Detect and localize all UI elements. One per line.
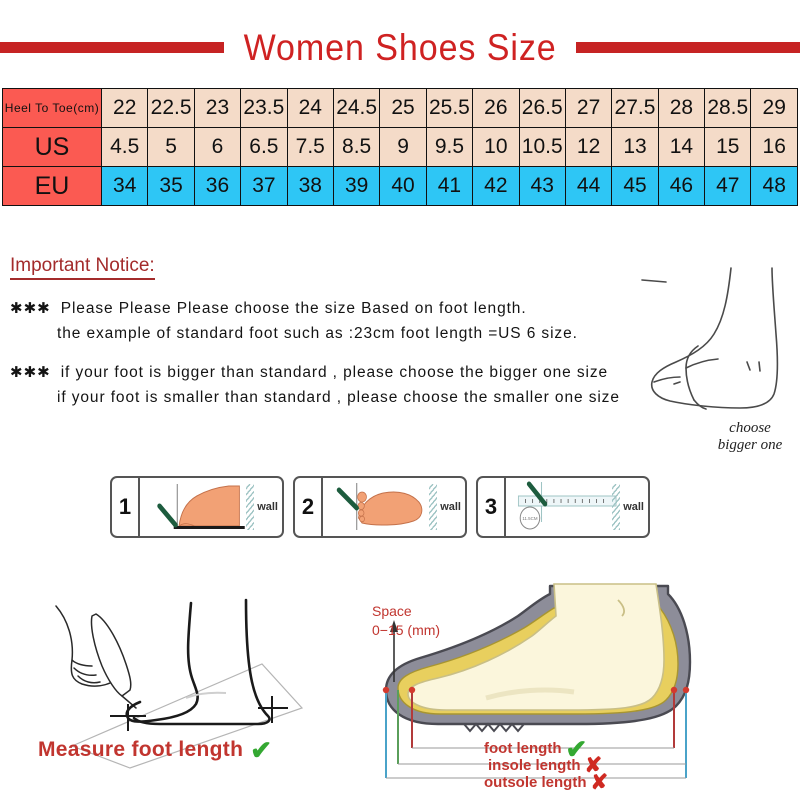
notice-text: if your foot is bigger than standard , p… (61, 364, 608, 381)
cell-cm: 22.5 (148, 89, 194, 128)
cell-us: 7.5 (287, 128, 333, 167)
cell-cm: 26 (473, 89, 519, 128)
cell-cm: 22 (102, 89, 148, 128)
cell-cm: 29 (751, 89, 798, 128)
sketch-caption-line1: choose (690, 420, 800, 437)
cell-us: 6 (194, 128, 240, 167)
cell-eu: 46 (658, 167, 704, 206)
step-number: 1 (112, 478, 140, 536)
cell-eu: 37 (241, 167, 287, 206)
cell-us: 4.5 (102, 128, 148, 167)
row-label-eu: EU (3, 167, 102, 206)
wall-label: wall (440, 501, 461, 513)
cell-us: 16 (751, 128, 798, 167)
step-panel-3: 3 11.5CM wall (476, 476, 650, 538)
space-label-line1: Space (372, 602, 440, 621)
table-row: Heel To Toe(cm) 22 22.5 23 23.5 24 24.5 … (3, 89, 798, 128)
cell-us: 9 (380, 128, 426, 167)
cell-cm: 28.5 (705, 89, 751, 128)
cell-us: 13 (612, 128, 658, 167)
row-label-heel-to-toe: Heel To Toe(cm) (3, 89, 102, 128)
cell-eu: 44 (565, 167, 611, 206)
table-row: EU 34 35 36 37 38 39 40 41 42 43 44 45 4… (3, 167, 798, 206)
cell-eu: 47 (705, 167, 751, 206)
cell-eu: 38 (287, 167, 333, 206)
check-icon: ✔ (250, 740, 272, 760)
measure-caption: Measure foot length ✔ (38, 738, 272, 762)
cell-us: 5 (148, 128, 194, 167)
step-1-illustration: wall (140, 478, 282, 536)
cell-us: 15 (705, 128, 751, 167)
legend-label: outsole length (484, 774, 587, 791)
step-number: 2 (295, 478, 323, 536)
ruler-reading: 11.5CM (522, 516, 537, 522)
cell-us: 8.5 (333, 128, 379, 167)
cell-eu: 40 (380, 167, 426, 206)
notice-line: if your foot is smaller than standard , … (10, 385, 700, 410)
cell-eu: 48 (751, 167, 798, 206)
notice-heading: Important Notice: (10, 255, 155, 280)
check-icon: ✔ (565, 739, 587, 759)
cell-us: 6.5 (241, 128, 287, 167)
step-number: 3 (478, 478, 506, 536)
step-panel-2: 2 wall (293, 476, 467, 538)
cell-cm: 23 (194, 89, 240, 128)
notice-paragraph-2: ✱✱✱if your foot is bigger than standard … (10, 360, 700, 410)
cell-us: 12 (565, 128, 611, 167)
asterisk-marker: ✱✱✱ (10, 364, 61, 381)
cell-eu: 36 (194, 167, 240, 206)
notice-line: ✱✱✱if your foot is bigger than standard … (10, 360, 700, 385)
cell-eu: 45 (612, 167, 658, 206)
cell-us: 10 (473, 128, 519, 167)
asterisk-marker: ✱✱✱ (10, 300, 61, 317)
notice-line: ✱✱✱Please Please Please choose the size … (10, 296, 700, 321)
wall-hatch-icon (429, 484, 437, 530)
page-title: Women Shoes Size (238, 29, 562, 66)
notice-paragraph-1: ✱✱✱Please Please Please choose the size … (10, 296, 700, 346)
cell-eu: 34 (102, 167, 148, 206)
title-bar-right (576, 42, 800, 53)
cross-icon: ✘ (591, 775, 609, 791)
cell-cm: 24 (287, 89, 333, 128)
size-conversion-table: Heel To Toe(cm) 22 22.5 23 23.5 24 24.5 … (2, 88, 798, 206)
cell-cm: 28 (658, 89, 704, 128)
wall-label: wall (257, 501, 278, 513)
title-bar-left (0, 42, 224, 53)
legend-item-insole-length: insole length ✘ (484, 757, 608, 774)
cell-eu: 42 (473, 167, 519, 206)
legend-label: foot length (484, 740, 561, 757)
step-2-illustration: wall (323, 478, 465, 536)
row-label-us: US (3, 128, 102, 167)
cell-cm: 25 (380, 89, 426, 128)
cell-eu: 39 (333, 167, 379, 206)
step-3-illustration: 11.5CM wall (506, 478, 648, 536)
cell-eu: 41 (426, 167, 472, 206)
wall-hatch-icon (246, 484, 254, 530)
step-panel-1: 1 wall (110, 476, 284, 538)
shoe-legend: foot length ✔ insole length ✘ outsole le… (484, 740, 608, 791)
cell-cm: 24.5 (333, 89, 379, 128)
cell-us: 9.5 (426, 128, 472, 167)
cell-cm: 27.5 (612, 89, 658, 128)
sketch-caption-line2: bigger one (690, 437, 800, 454)
wall-label: wall (623, 501, 644, 513)
table-row: US 4.5 5 6 6.5 7.5 8.5 9 9.5 10 10.5 12 … (3, 128, 798, 167)
cell-cm: 25.5 (426, 89, 472, 128)
measurement-steps: 1 wall 2 (110, 476, 650, 538)
wall-hatch-icon (612, 484, 620, 530)
cell-us: 14 (658, 128, 704, 167)
space-label-line2: 0−15 (mm) (372, 621, 440, 640)
cell-cm: 27 (565, 89, 611, 128)
cell-cm: 26.5 (519, 89, 565, 128)
sketch-caption: choose bigger one (690, 420, 800, 454)
cell-eu: 43 (519, 167, 565, 206)
cell-eu: 35 (148, 167, 194, 206)
cell-cm: 23.5 (241, 89, 287, 128)
notice-text: Please Please Please choose the size Bas… (61, 300, 527, 317)
legend-item-outsole-length: outsole length ✘ (484, 774, 608, 791)
cell-us: 10.5 (519, 128, 565, 167)
important-notice-block: Important Notice: ✱✱✱Please Please Pleas… (10, 255, 700, 424)
legend-label: insole length (488, 757, 581, 774)
page-title-row: Women Shoes Size (0, 22, 800, 72)
space-gap-label: Space 0−15 (mm) (372, 602, 440, 640)
notice-line: the example of standard foot such as :23… (10, 321, 700, 346)
measure-caption-text: Measure foot length (38, 738, 243, 762)
